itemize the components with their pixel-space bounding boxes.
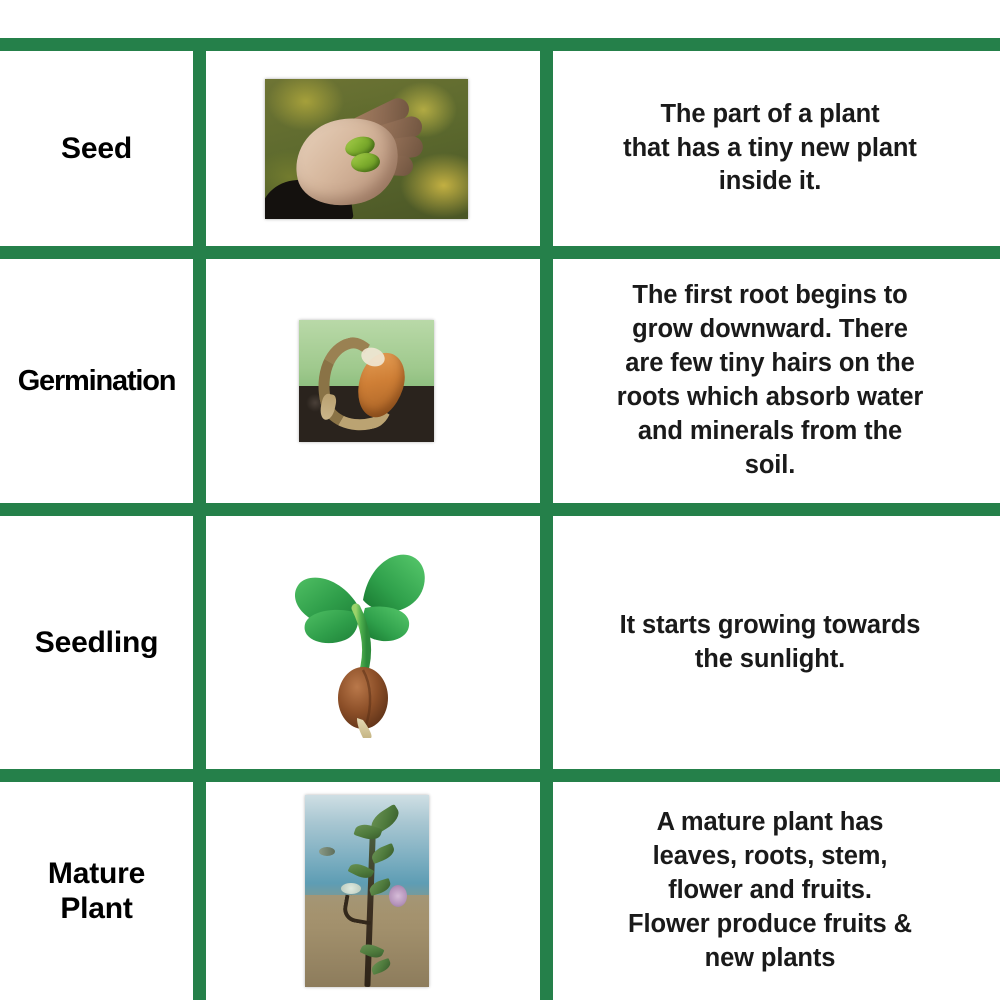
table-row-seed: Seed The part of a plant that has a tiny… bbox=[0, 51, 1000, 246]
stage-description-seedling: It starts growing towards the sunlight. bbox=[606, 609, 935, 677]
illustration-cell-germination bbox=[193, 259, 540, 503]
illustration-cell-seedling bbox=[193, 516, 540, 769]
table-border-top bbox=[0, 38, 1000, 51]
description-cell-seed: The part of a plant that has a tiny new … bbox=[540, 51, 1000, 246]
stage-name-seedling: Seedling bbox=[35, 625, 158, 660]
mature-plant-photo bbox=[305, 795, 429, 987]
illustration-cell-mature-plant bbox=[193, 782, 540, 1000]
stage-label-cell-seedling: Seedling bbox=[0, 516, 193, 769]
table-row-germination: Germination The first root begins to gro… bbox=[0, 259, 1000, 503]
stage-name-germination: Germination bbox=[0, 364, 193, 398]
description-cell-germination: The first root begins to grow downward. … bbox=[540, 259, 1000, 503]
stage-label-cell-germination: Germination bbox=[0, 259, 193, 503]
row-divider-1 bbox=[0, 246, 1000, 259]
germinating-seed-photo bbox=[299, 320, 434, 442]
seed-shape bbox=[338, 667, 388, 729]
stage-name-mature-plant: Mature Plant bbox=[48, 856, 145, 927]
row-divider-2 bbox=[0, 503, 1000, 516]
stage-label-cell-mature-plant: Mature Plant bbox=[0, 782, 193, 1000]
stage-description-seed: The part of a plant that has a tiny new … bbox=[609, 98, 931, 200]
illustration-cell-seed bbox=[193, 51, 540, 246]
description-cell-mature-plant: A mature plant has leaves, roots, stem, … bbox=[540, 782, 1000, 1000]
leaf-upper-right-shape bbox=[363, 554, 425, 611]
stage-name-seed: Seed bbox=[61, 131, 132, 166]
hand-holding-seeds-photo bbox=[265, 79, 468, 219]
stage-description-mature-plant: A mature plant has leaves, roots, stem, … bbox=[614, 806, 926, 976]
flower-shape bbox=[389, 885, 407, 907]
plant-life-cycle-table: Seed The part of a plant that has a tiny… bbox=[0, 0, 1000, 1000]
flower-shape bbox=[319, 847, 335, 856]
description-cell-seedling: It starts growing towards the sunlight. bbox=[540, 516, 1000, 769]
stage-label-cell-seed: Seed bbox=[0, 51, 193, 246]
row-divider-3 bbox=[0, 769, 1000, 782]
table-row-mature-plant: Mature Plant A mature plant has leaves, … bbox=[0, 782, 1000, 1000]
flower-shape bbox=[341, 883, 361, 894]
table-row-seedling: Seedling bbox=[0, 516, 1000, 769]
seedling-illustration bbox=[283, 548, 451, 738]
stage-description-germination: The first root begins to grow downward. … bbox=[603, 279, 938, 482]
